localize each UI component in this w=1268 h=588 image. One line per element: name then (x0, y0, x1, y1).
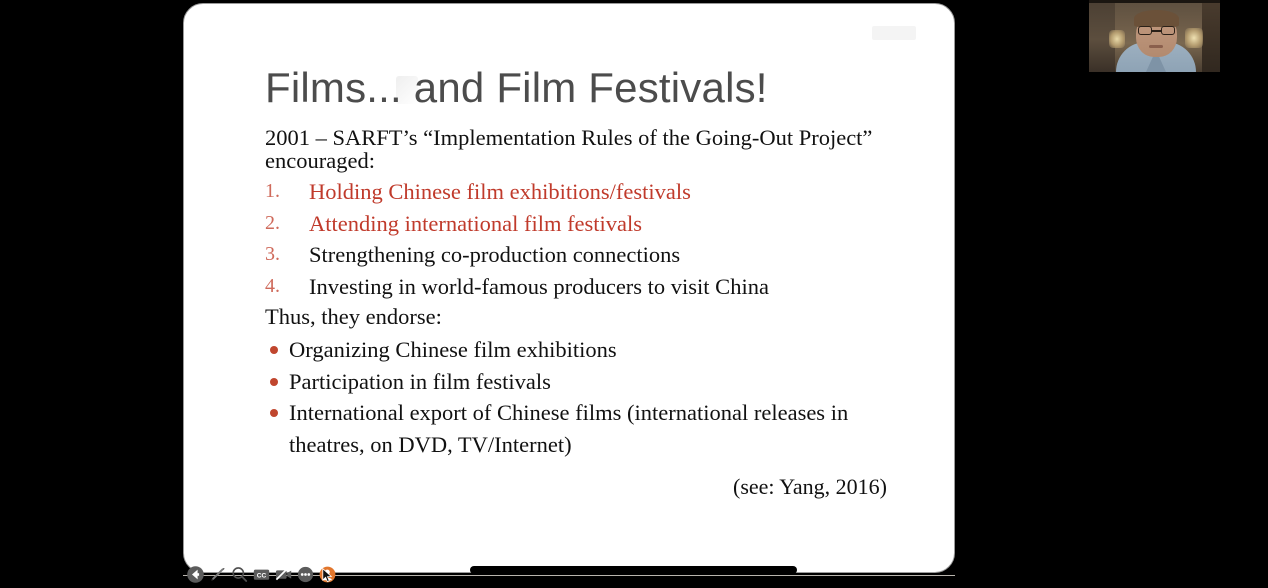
bulleted-list: Organizing Chinese film exhibitions Part… (265, 334, 925, 460)
glasses-lens-left (1138, 26, 1152, 35)
bullet-item-3: International export of Chinese films (i… (265, 397, 925, 460)
list-item-text: Strengthening co-production connections (309, 242, 680, 267)
scrollbar-thumb[interactable] (470, 566, 797, 574)
bullet-dot-icon (270, 346, 278, 354)
list-number: 2. (265, 208, 291, 240)
list-item-text: Holding Chinese film exhibitions/festiva… (309, 179, 691, 204)
webcam-wall-right (1202, 0, 1220, 72)
glasses-bridge (1152, 30, 1161, 32)
numbered-item-2: 2. Attending international film festival… (265, 208, 925, 240)
lead-paragraph: 2001 – SARFT’s “Implementation Rules of … (265, 126, 915, 172)
closed-captions-icon[interactable]: CC (252, 565, 271, 584)
numbered-list: 1. Holding Chinese film exhibitions/fest… (265, 176, 925, 302)
svg-text:CC: CC (257, 572, 267, 579)
webcam-person-hair (1134, 10, 1179, 27)
list-number: 1. (265, 176, 291, 208)
bullet-item-text: Organizing Chinese film exhibitions (289, 337, 617, 362)
numbered-item-3: 3. Strengthening co-production connectio… (265, 239, 925, 271)
numbered-item-4: 4. Investing in world-famous producers t… (265, 271, 925, 303)
more-dots-icon[interactable] (296, 565, 315, 584)
numbered-item-1: 1. Holding Chinese film exhibitions/fest… (265, 176, 925, 208)
bullet-dot-icon (270, 378, 278, 386)
list-number: 4. (265, 271, 291, 303)
magnifier-icon[interactable] (230, 565, 249, 584)
slide-title: Films... and Film Festivals! (265, 64, 768, 112)
bullet-dot-icon (270, 409, 278, 417)
list-number: 3. (265, 239, 291, 271)
person-orange-icon[interactable] (318, 565, 337, 584)
webcam-lamp-left (1109, 30, 1125, 48)
slide-card[interactable]: Films... and Film Festivals! 2001 – SARF… (183, 3, 955, 573)
bullet-item-2: Participation in film festivals (265, 366, 925, 398)
presentation-window: Films... and Film Festivals! 2001 – SARF… (0, 0, 1268, 586)
slide-body: 2001 – SARFT’s “Implementation Rules of … (265, 126, 925, 498)
bullet-item-text: International export of Chinese films (i… (289, 400, 848, 457)
list-item-text: Attending international film festivals (309, 211, 642, 236)
slide-progress-scrollbar[interactable] (340, 563, 940, 577)
bullet-item-text: Participation in film festivals (289, 369, 551, 394)
glasses-lens-right (1161, 26, 1175, 35)
thus-they-endorse-line: Thus, they endorse: (265, 303, 925, 331)
slide-artifact-secondary (872, 26, 916, 40)
pen-icon[interactable] (208, 565, 227, 584)
list-item-text: Investing in world-famous producers to v… (309, 274, 769, 299)
webcam-lamp-right (1185, 28, 1203, 48)
webcam-top-edge (1089, 0, 1220, 3)
camera-off-icon[interactable] (274, 565, 293, 584)
back-circle-arrow-icon[interactable] (186, 565, 205, 584)
slide-content: Films... and Film Festivals! 2001 – SARF… (184, 4, 954, 572)
bullet-item-1: Organizing Chinese film exhibitions (265, 334, 925, 366)
citation-text: (see: Yang, 2016) (265, 476, 925, 498)
self-view-video[interactable] (1089, 0, 1220, 72)
webcam-person-glasses (1138, 26, 1175, 35)
webcam-person-mouth (1149, 45, 1163, 48)
